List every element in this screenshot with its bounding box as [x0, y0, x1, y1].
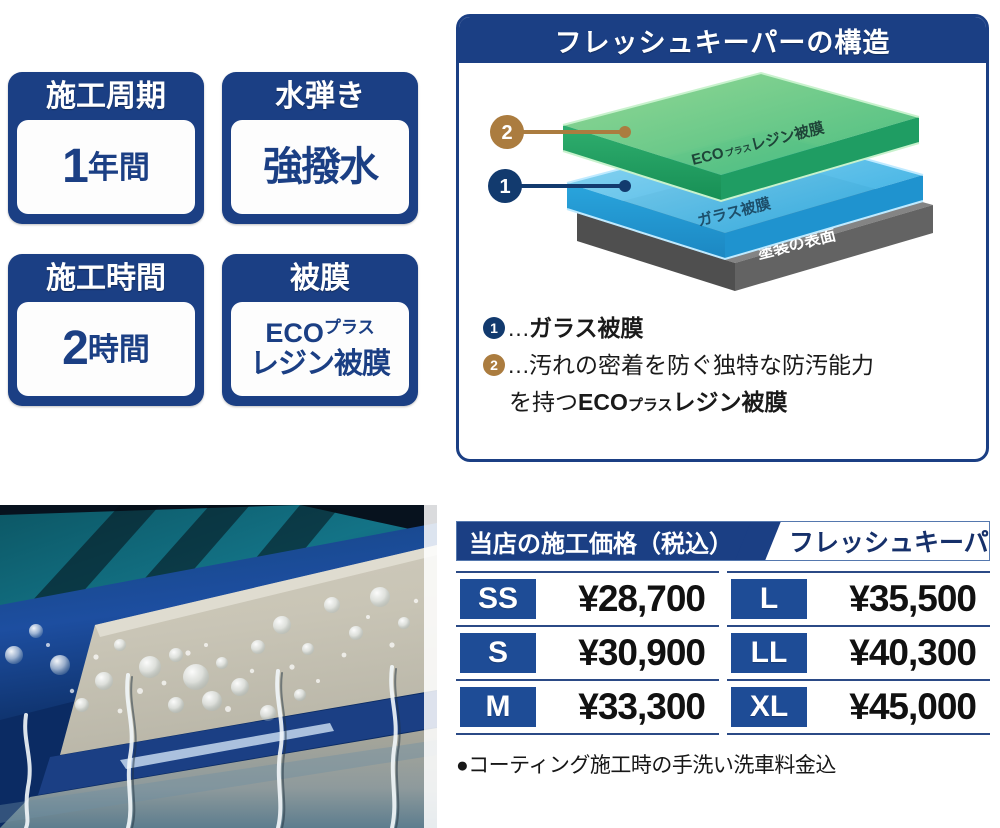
legend-badge-one: 1 [483, 317, 505, 339]
spec-value-number: 1 [62, 143, 88, 191]
spec-value-unit: 時間 [88, 334, 150, 365]
legend-two-eco-sup: プラス [628, 397, 673, 414]
table-row: XL ¥45,000 [727, 679, 990, 735]
spec-card-grid: 施工周期 1年間 水弾き 強撥水 施工時間 2時間 被膜 ECOプラス [8, 72, 432, 412]
legend-dots: … [507, 315, 529, 341]
size-badge: L [731, 579, 807, 619]
size-badge: SS [460, 579, 536, 619]
spec-card-title: 水弾き [275, 79, 365, 115]
size-badge: S [460, 633, 536, 673]
size-badge: M [460, 687, 536, 727]
legend-text-one: …ガラス被膜 [507, 313, 644, 343]
price-column-right: L ¥35,500 LL ¥40,300 XL ¥45,000 [727, 571, 990, 735]
spec-card-value: ECOプラス レジン被膜 [231, 302, 409, 396]
legend-two-prefix: を持つ [509, 389, 578, 415]
spec-card-value: 強撥水 [231, 120, 409, 214]
structure-panel: フレッシュキーパーの構造 [456, 14, 989, 462]
legend-item-two: 2 …汚れの密着を防ぐ独特な防汚能力 [483, 350, 972, 380]
legend-two-line1: 汚れの密着を防ぐ独特な防汚能力 [529, 352, 874, 378]
price-header-band: 当店の施工価格（税込） フレッシュキーパー [456, 521, 990, 561]
legend-one-label: ガラス被膜 [529, 315, 644, 341]
table-row: L ¥35,500 [727, 571, 990, 627]
infographic-page: 施工周期 1年間 水弾き 強撥水 施工時間 2時間 被膜 ECOプラス [0, 0, 1000, 828]
table-row: S ¥30,900 [456, 625, 719, 681]
price-header-right: フレッシュキーパー [759, 522, 990, 560]
spec-card-coating-film: 被膜 ECOプラス レジン被膜 [222, 254, 418, 406]
size-badge: XL [731, 687, 807, 727]
price-header-left: 当店の施工価格（税込） [457, 522, 759, 560]
water-beading-photo [0, 505, 437, 828]
spec-value-word: 強撥水 [263, 147, 377, 187]
price-amount: ¥28,700 [542, 578, 719, 620]
table-row: LL ¥40,300 [727, 625, 990, 681]
price-amount: ¥30,900 [542, 632, 719, 674]
table-row: SS ¥28,700 [456, 571, 719, 627]
legend-two-line2: を持つECOプラスレジン被膜 [509, 387, 972, 421]
spec-value-number: 2 [62, 325, 88, 373]
structure-legend: 1 …ガラス被膜 2 …汚れの密着を防ぐ独特な防汚能力 を持つECOプラスレジン… [483, 313, 972, 421]
structure-panel-header: フレッシュキーパーの構造 [459, 17, 986, 63]
legend-item-one: 1 …ガラス被膜 [483, 313, 972, 343]
price-amount: ¥45,000 [813, 686, 990, 728]
table-row: M ¥33,300 [456, 679, 719, 735]
layer-diagram-svg: 塗装の表面 ガラス被膜 [459, 63, 986, 303]
spec-card-value: 2時間 [17, 302, 195, 396]
spec-card-value: 1年間 [17, 120, 195, 214]
price-section: 当店の施工価格（税込） フレッシュキーパー SS ¥28,700 S ¥30,9… [456, 521, 990, 779]
spec-card-title: 被膜 [290, 261, 350, 297]
eco-line-two: レジン被膜 [250, 349, 390, 379]
eco-value-stack: ECOプラス レジン被膜 [250, 319, 390, 379]
spec-card-duration: 施工時間 2時間 [8, 254, 204, 406]
spec-card-title: 施工周期 [46, 79, 166, 115]
legend-two-eco: ECO [578, 389, 628, 415]
legend-dots: … [507, 352, 529, 378]
eco-superscript: プラス [324, 318, 375, 337]
structure-panel-title: フレッシュキーパーの構造 [555, 21, 891, 60]
layer-diagram: 塗装の表面 ガラス被膜 [459, 63, 986, 303]
spec-value-unit: 年間 [88, 152, 150, 183]
spec-card-title: 施工時間 [46, 261, 166, 297]
price-footnote: ●コーティング施工時の手洗い洗車料金込 [456, 749, 990, 779]
eco-label: ECO [265, 318, 324, 348]
eco-line-one: ECOプラス [265, 319, 374, 347]
legend-badge-two: 2 [483, 354, 505, 376]
legend-text-two: …汚れの密着を防ぐ独特な防汚能力 [507, 350, 874, 380]
price-table: SS ¥28,700 S ¥30,900 M ¥33,300 L ¥35,500 [456, 571, 990, 735]
legend-two-eco-rest: レジン被膜 [673, 389, 788, 415]
spec-card-cycle: 施工周期 1年間 [8, 72, 204, 224]
price-amount: ¥35,500 [813, 578, 990, 620]
price-column-left: SS ¥28,700 S ¥30,900 M ¥33,300 [456, 571, 719, 735]
price-amount: ¥40,300 [813, 632, 990, 674]
callout-two-number: 2 [501, 122, 512, 144]
price-amount: ¥33,300 [542, 686, 719, 728]
callout-one-number: 1 [499, 176, 510, 198]
photo-illustration [0, 505, 437, 828]
spec-card-water-repellency: 水弾き 強撥水 [222, 72, 418, 224]
size-badge: LL [731, 633, 807, 673]
